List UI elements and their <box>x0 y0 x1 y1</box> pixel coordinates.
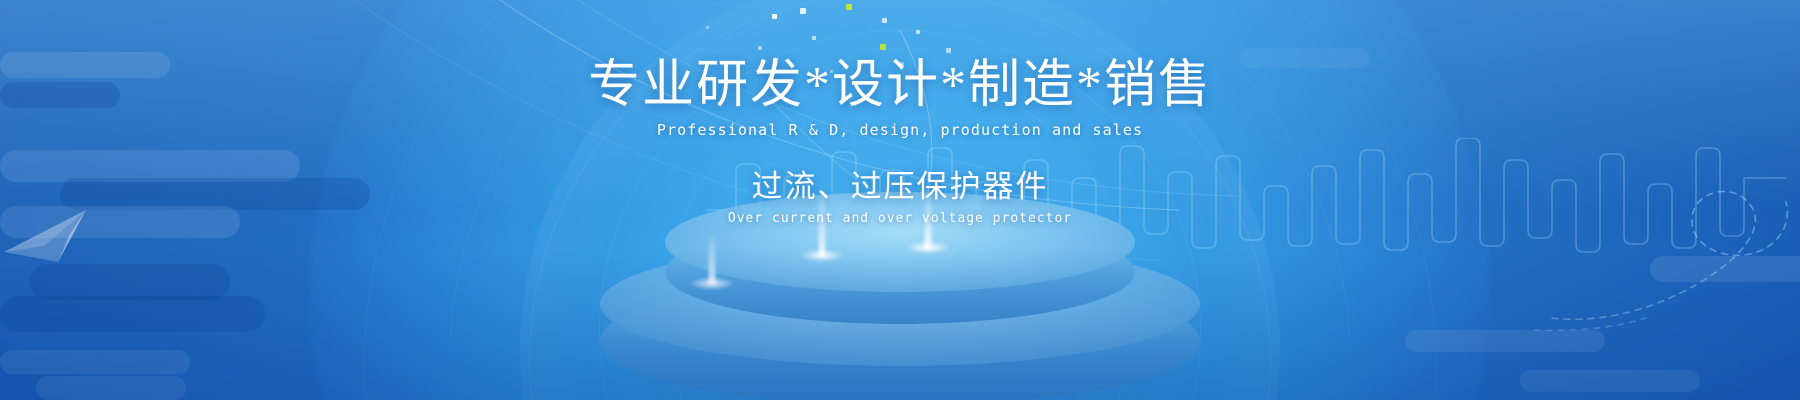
hero-banner: 专业研发*设计*制造*销售 Professional R & D, design… <box>0 0 1800 400</box>
background-center-glow <box>310 0 1490 400</box>
